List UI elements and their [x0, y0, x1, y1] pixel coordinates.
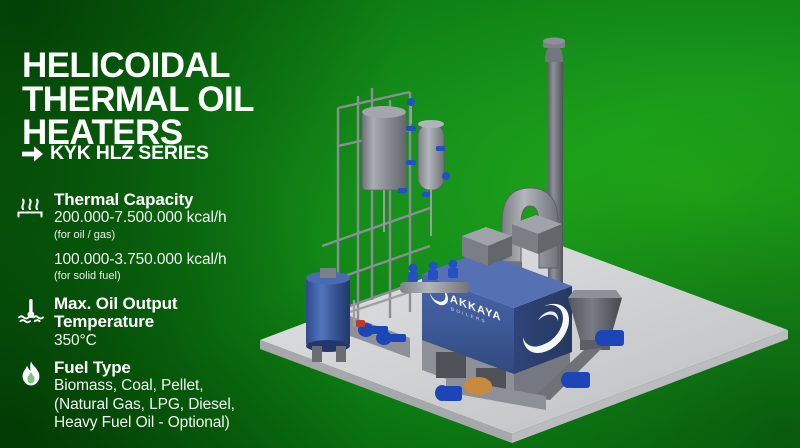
spec-body: Fuel Type Biomass, Coal, Pellet, (Natura…: [54, 358, 235, 432]
series-label: KYK HLZ SERIES: [50, 142, 209, 165]
spec-title: Fuel Type: [54, 359, 235, 377]
spec-fuel-type: Fuel Type Biomass, Coal, Pellet, (Natura…: [16, 358, 235, 432]
spec-thermal-capacity: Thermal Capacity 200.000-7.500.000 kcal/…: [16, 190, 227, 284]
spec-note-2: (for solid fuel): [54, 269, 227, 283]
spec-value-1: 350°C: [54, 332, 177, 350]
headline-line-1: HELICOIDAL: [22, 49, 254, 82]
spec-body: Thermal Capacity 200.000-7.500.000 kcal/…: [54, 190, 227, 284]
series-subtitle: KYK HLZ SERIES: [22, 142, 209, 165]
spacer: [54, 242, 227, 251]
spec-value-2: 100.000-3.750.000 kcal/h: [54, 251, 227, 269]
spec-title-line-2: Temperature: [54, 313, 177, 331]
spec-value-2: (Natural Gas, LPG, Diesel,: [54, 396, 235, 414]
headline-line-2: THERMAL OIL: [22, 83, 254, 116]
spec-value-1: 200.000-7.500.000 kcal/h: [54, 209, 227, 227]
spec-title-line-1: Max. Oil Output: [54, 295, 177, 313]
spec-value-1: Biomass, Coal, Pellet,: [54, 377, 235, 395]
spec-note-1: (for oil / gas): [54, 228, 227, 242]
main-heater-unit: AKKAYA BOILERS: [422, 215, 572, 404]
page-title: HELICOIDAL THERMAL OIL HEATERS: [22, 49, 254, 149]
heat-waves-icon: [16, 191, 46, 221]
spec-max-oil-output-temperature: Max. Oil Output Temperature 350°C: [16, 294, 177, 350]
spec-title: Thermal Capacity: [54, 191, 227, 209]
thermometer-water-icon: [16, 295, 46, 325]
arrow-right-icon: [22, 145, 43, 163]
text-column: HELICOIDAL THERMAL OIL HEATERS KYK HLZ S…: [0, 0, 340, 448]
poster-root: AKKAYA BOILERS: [0, 0, 800, 448]
spec-value-3: Heavy Fuel Oil - Optional): [54, 414, 235, 432]
flame-icon: [16, 359, 46, 389]
spec-body: Max. Oil Output Temperature 350°C: [54, 294, 177, 350]
